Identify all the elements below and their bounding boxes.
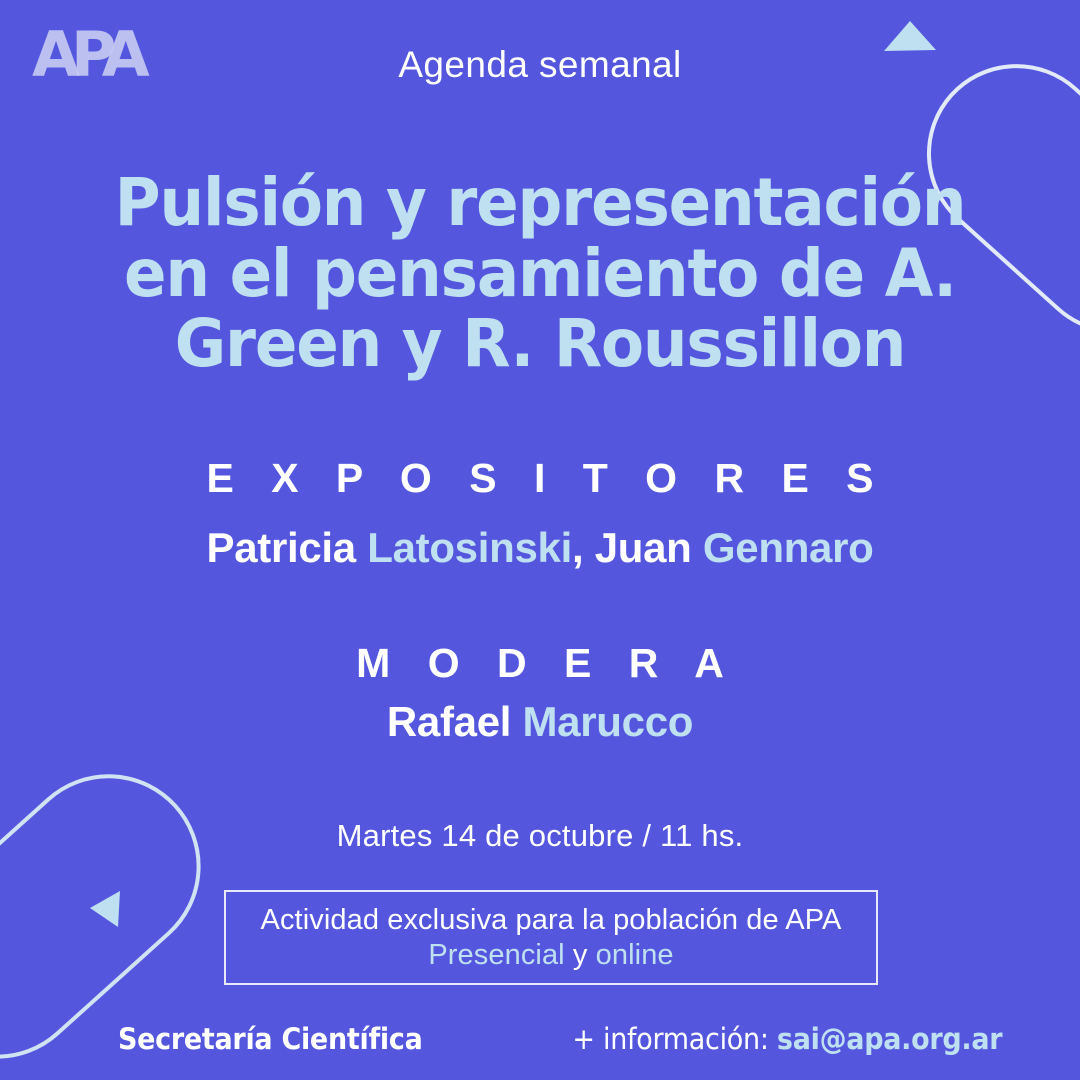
moderator-heading: M O D E R A — [0, 640, 1080, 687]
speaker-2-first: Juan — [595, 524, 703, 571]
footer-department: Secretaría Científica — [118, 1022, 423, 1056]
info-box-modality-presencial: Presencial — [428, 939, 564, 971]
speaker-1-last: Latosinski — [367, 524, 572, 571]
speaker-2-last: Gennaro — [703, 524, 874, 571]
moderator-name: Rafael Marucco — [0, 698, 1080, 746]
page-title: Pulsión y representación en el pensamien… — [84, 168, 996, 380]
moderator-first: Rafael — [387, 698, 523, 745]
speakers-names: Patricia Latosinski, Juan Gennaro — [0, 524, 1080, 572]
info-box-modality-online: online — [596, 939, 674, 971]
footer-contact: + información: sai@apa.org.ar — [572, 1022, 1002, 1056]
page-title-line-3: Green y R. Roussillon — [84, 309, 996, 380]
moderator-last: Marucco — [523, 698, 694, 745]
agenda-kicker: Agenda semanal — [0, 44, 1080, 86]
speakers-heading: E X P O S I T O R E S — [0, 455, 1080, 502]
info-box-line-1: Actividad exclusiva para la población de… — [261, 903, 842, 938]
page-title-line-2: en el pensamiento de A. — [84, 239, 996, 310]
schedule-date: Martes 14 de octubre / 11 hs. — [0, 818, 1080, 854]
speakers-separator: , — [572, 524, 595, 571]
info-box: Actividad exclusiva para la población de… — [224, 890, 878, 985]
speaker-1-first: Patricia — [206, 524, 367, 571]
info-box-line-2: Presencial y online — [428, 938, 673, 973]
poster-canvas: APA Agenda semanal Pulsión y representac… — [0, 0, 1080, 1080]
footer-contact-label: + información: — [572, 1022, 777, 1056]
page-title-line-1: Pulsión y representación — [84, 168, 996, 239]
triangle-left-icon — [90, 891, 120, 927]
info-box-conjunction: y — [565, 939, 596, 971]
footer-contact-email[interactable]: sai@apa.org.ar — [777, 1022, 1002, 1056]
